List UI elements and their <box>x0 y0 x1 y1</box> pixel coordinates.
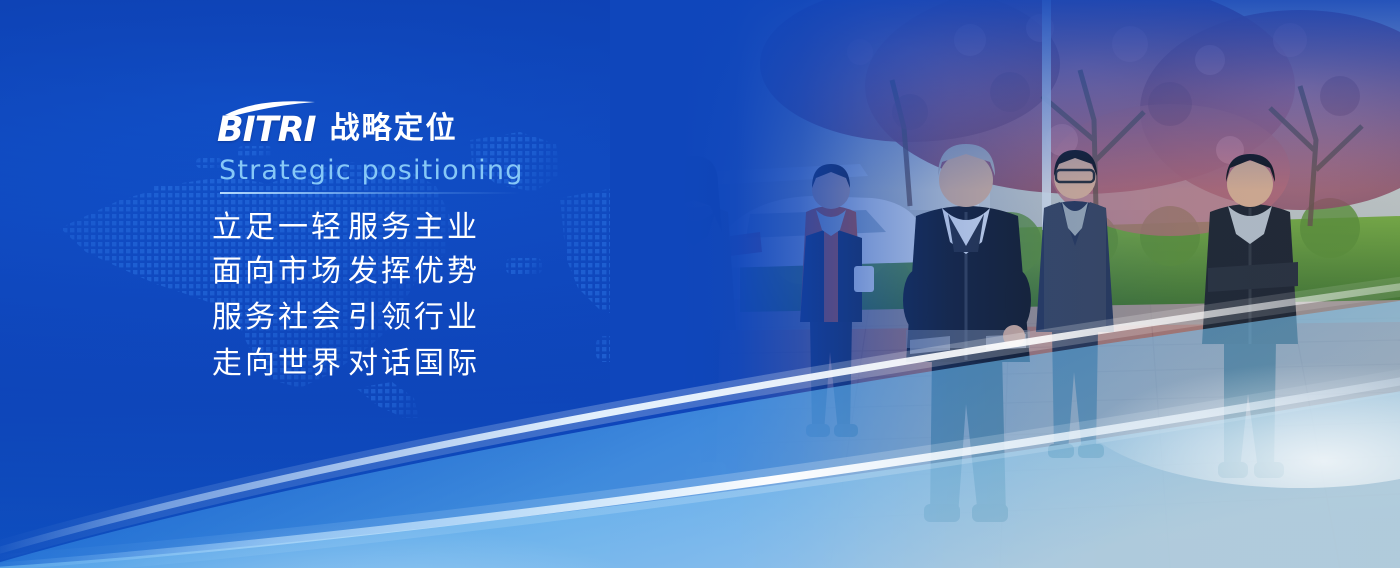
slogan-right: 发挥优势 <box>348 250 480 294</box>
slogan-right: 服务主业 <box>348 206 480 250</box>
brand-subtitle-en: Strategic positioning <box>219 155 524 187</box>
slogan-list: 立足一轻 服务主业 面向市场 发挥优势 服务社会 引领行业 走向世界 对话国际 <box>212 206 480 386</box>
slogan-line: 面向市场 发挥优势 <box>212 250 480 294</box>
text-content: BITRI 战略定位 Strategic positioning 立足一轻 服务… <box>0 0 660 568</box>
slogan-left: 面向市场 <box>212 250 348 294</box>
hero-photo <box>610 0 1400 568</box>
arc-swoosh-icon <box>223 99 323 117</box>
slogan-right: 引领行业 <box>348 296 480 340</box>
slogan-line: 走向世界 对话国际 <box>212 342 480 386</box>
brand-lockup: BITRI 战略定位 <box>217 112 458 148</box>
title-divider <box>220 192 520 194</box>
photo-left-fade <box>610 0 1400 568</box>
bitri-logo: BITRI <box>217 112 316 148</box>
slogan-right: 对话国际 <box>348 342 480 386</box>
slogan-left: 走向世界 <box>212 342 348 386</box>
slogan-left: 服务社会 <box>212 296 348 340</box>
banner-root: BITRI 战略定位 Strategic positioning 立足一轻 服务… <box>0 0 1400 568</box>
brand-title-cn: 战略定位 <box>330 112 458 146</box>
slogan-line: 立足一轻 服务主业 <box>212 206 480 250</box>
slogan-line: 服务社会 引领行业 <box>212 296 480 340</box>
slogan-left: 立足一轻 <box>212 206 348 250</box>
